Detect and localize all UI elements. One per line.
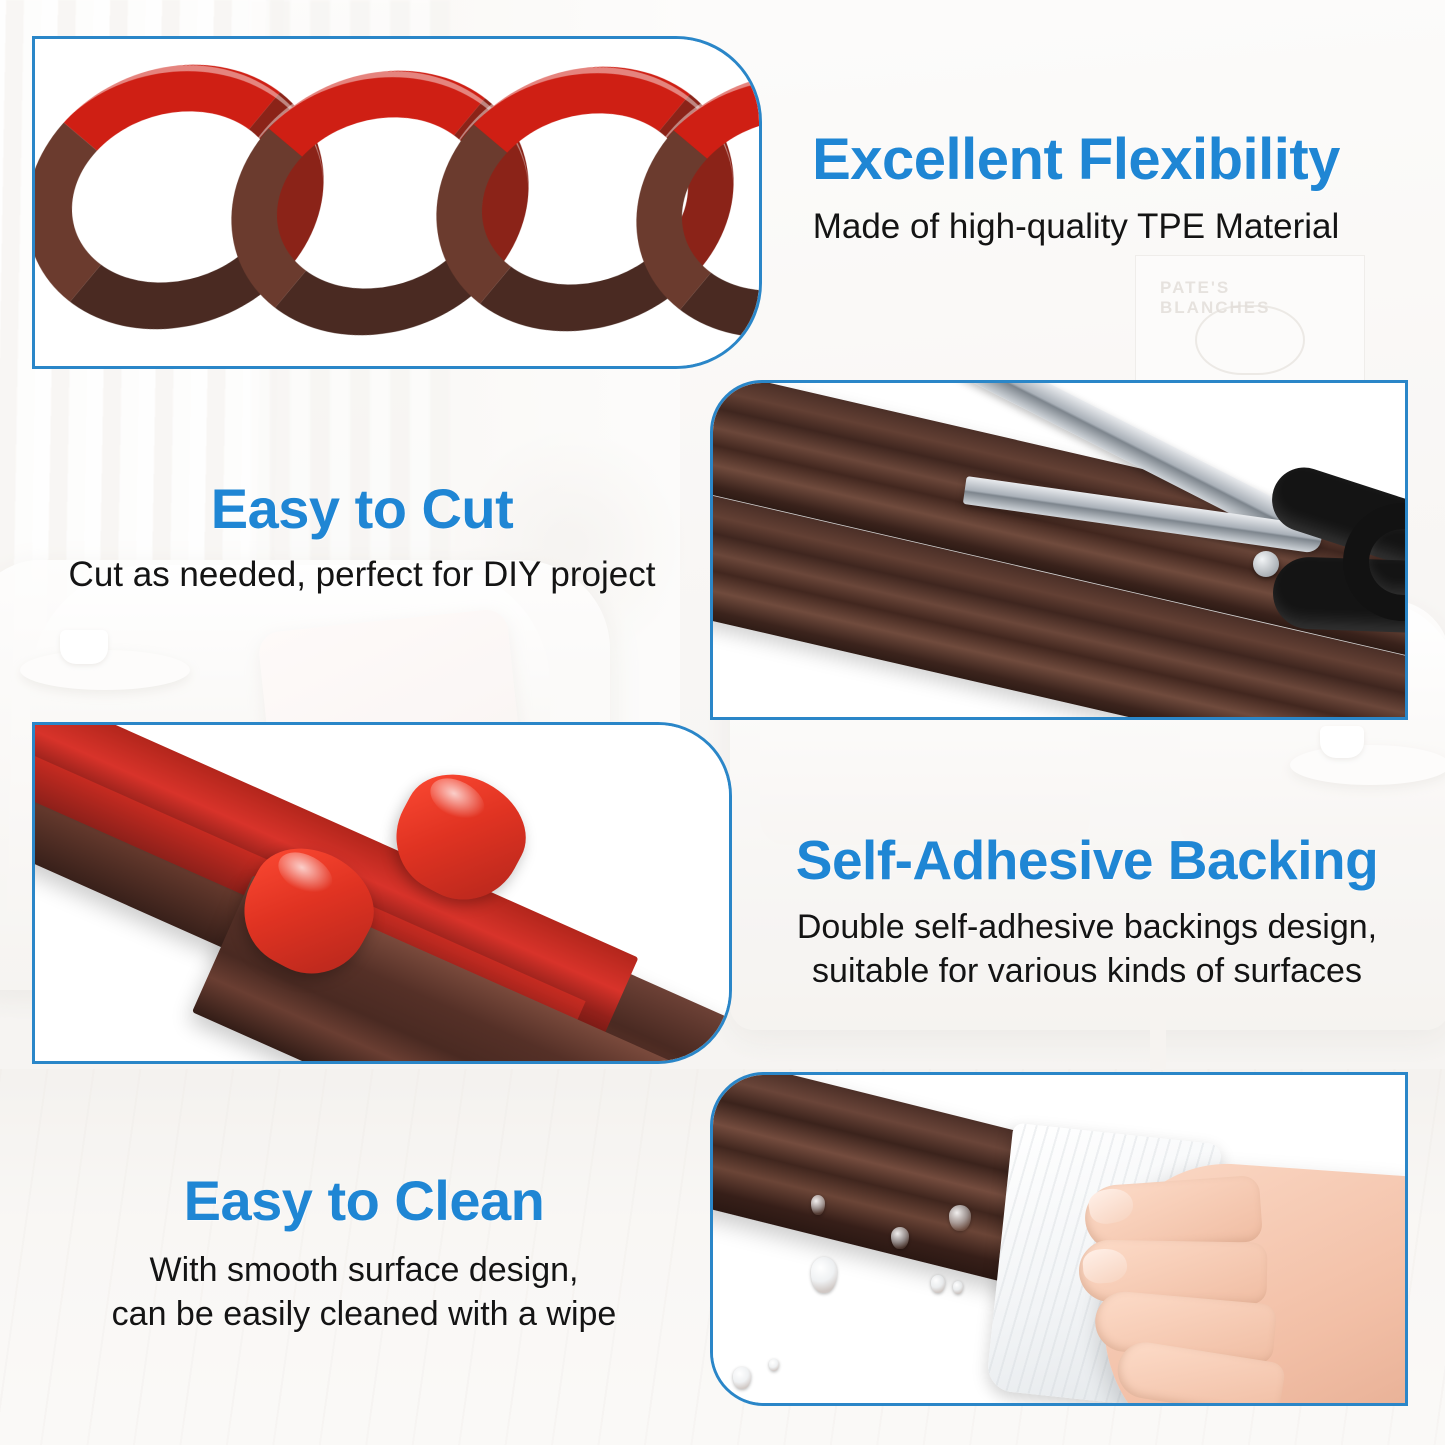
scissors-pivot-screw [1253, 551, 1279, 577]
feature-text-cut: Easy to Cut Cut as needed, perfect for D… [18, 480, 706, 598]
feature-subtext-adhesive-line1: Double self-adhesive backings design, [797, 908, 1377, 946]
feature-photo-panel-flexibility [32, 36, 762, 369]
feature-photo-panel-adhesive [32, 722, 732, 1064]
product-photo-coiled-strip [35, 39, 759, 366]
water-droplet [811, 1257, 837, 1293]
product-photo-adhesive-peel [35, 725, 729, 1061]
water-droplet [811, 1195, 825, 1215]
product-photo-wiping-strip [713, 1075, 1405, 1403]
feature-subtext-adhesive: Double self-adhesive backings design, su… [740, 906, 1434, 993]
feature-subtext-clean-line2: can be easily cleaned with a wipe [28, 1293, 700, 1337]
product-photo-scissors-cutting [713, 383, 1405, 717]
feature-headline-adhesive: Self-Adhesive Backing [740, 832, 1434, 888]
feature-text-clean: Easy to Clean With smooth surface design… [28, 1172, 700, 1336]
feature-text-flexibility: Excellent Flexibility Made of high-quali… [720, 130, 1432, 250]
water-droplet [953, 1281, 963, 1294]
feature-subtext-clean-line1: With smooth surface design, [150, 1251, 579, 1289]
feature-subtext-flexibility: Made of high-quality TPE Material [720, 205, 1432, 250]
water-droplet [733, 1367, 751, 1389]
water-droplet [891, 1227, 909, 1249]
feature-subtext-cut: Cut as needed, perfect for DIY project [18, 553, 706, 598]
feature-photo-panel-cut [710, 380, 1408, 720]
feature-headline-clean: Easy to Clean [28, 1172, 700, 1229]
feature-subtext-clean: With smooth surface design, can be easil… [28, 1249, 700, 1336]
feature-headline-flexibility: Excellent Flexibility [720, 130, 1432, 189]
feature-headline-cut: Easy to Cut [18, 480, 706, 537]
water-droplet [949, 1205, 971, 1231]
feature-subtext-adhesive-line2: suitable for various kinds of surfaces [740, 950, 1434, 994]
feature-text-adhesive: Self-Adhesive Backing Double self-adhesi… [740, 832, 1434, 993]
feature-photo-panel-clean [710, 1072, 1408, 1406]
water-droplet [931, 1275, 945, 1293]
coiled-strip-illustration [35, 57, 759, 357]
water-droplet [769, 1359, 779, 1371]
